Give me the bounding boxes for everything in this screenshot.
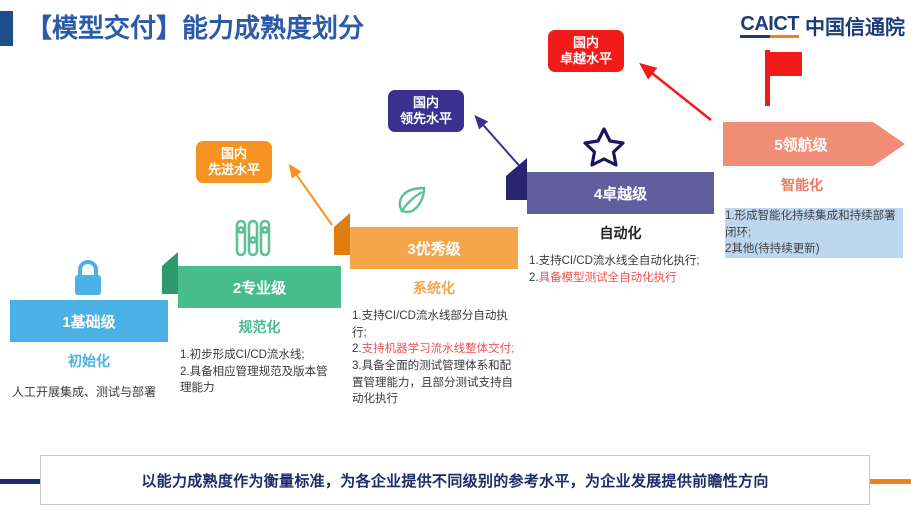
step-2-title: 2专业级 [233, 277, 286, 298]
flag-icon [762, 48, 806, 111]
step-1-subtitle: 初始化 [10, 351, 168, 371]
lock-icon [72, 258, 104, 303]
step-4-subtitle: 自动化 [527, 223, 714, 243]
maturity-step-4[interactable]: 4卓越级 自动化 1.支持CI/CD流水线全自动化执行; 2.具备模型测试全自动… [527, 172, 714, 286]
step-3-riser [334, 213, 350, 255]
step-1-title: 1基础级 [10, 300, 168, 342]
step-5-header: 5领航级 [723, 122, 905, 166]
leaf-icon [395, 183, 429, 222]
maturity-step-3[interactable]: 3优秀级 系统化 1.支持CI/CD流水线部分自动执行; 2.支持机器学习流水线… [350, 227, 518, 408]
badge-line-1: 国内 [400, 95, 452, 111]
step-5-description: 1.形成智能化持续集成和持续部署闭环; 2其他(待持续更新) [723, 208, 905, 258]
slide-canvas: 【模型交付】能力成熟度划分 CAICT 中国信通院 [0, 0, 911, 510]
caict-logo: CAICT 中国信通院 [740, 14, 905, 38]
step-3-desc-item-2-num: 2. [352, 343, 362, 355]
step-5-desc-item-2: 2其他(待持续更新) [725, 241, 903, 258]
badge-domestic-leading[interactable]: 国内 领先水平 [388, 90, 464, 132]
maturity-step-2[interactable]: 2专业级 规范化 1.初步形成CI/CD流水线; 2.具备相应管理规范及版本管理… [178, 266, 341, 397]
step-4-desc-item-1: 1.支持CI/CD流水线全自动化执行; [529, 253, 712, 270]
badge-line-2: 先进水平 [208, 162, 260, 178]
page-title: 【模型交付】能力成熟度划分 [26, 8, 364, 45]
maturity-step-1[interactable]: 1基础级 初始化 人工开展集成、测试与部署 [10, 300, 168, 401]
step-4-description: 1.支持CI/CD流水线全自动化执行; 2.具备模型测试全自动化执行 [527, 253, 714, 286]
step-4-title: 4卓越级 [594, 183, 647, 204]
footer-text: 以能力成熟度作为衡量标准，为各企业提供不同级别的参考水平，为企业发展提供前瞻性方… [141, 470, 768, 491]
sliders-icon [233, 218, 273, 263]
step-3-desc-item-1: 1.支持CI/CD流水线部分自动执行; [352, 308, 516, 341]
step-3-header: 3优秀级 [350, 227, 518, 269]
step-4-desc-item-2-num: 2. [529, 272, 539, 284]
footer-banner: 以能力成熟度作为衡量标准，为各企业提供不同级别的参考水平，为企业发展提供前瞻性方… [40, 455, 870, 505]
step-5-subtitle: 智能化 [723, 175, 881, 195]
step-5-title: 5领航级 [774, 134, 827, 155]
step-1-desc-line: 人工开展集成、测试与部署 [12, 383, 166, 401]
step-1-description: 人工开展集成、测试与部署 [10, 383, 168, 401]
star-icon [583, 126, 625, 173]
step-2-subtitle: 规范化 [178, 317, 341, 337]
step-2-desc-line: 2.具备相应管理规范及版本管理能力 [180, 364, 339, 397]
step-5-desc-item-1: 1.形成智能化持续集成和持续部署闭环; [725, 208, 903, 241]
step-3-description: 1.支持CI/CD流水线部分自动执行; 2.支持机器学习流水线整体交付; 3.具… [350, 308, 518, 408]
step-2-riser [162, 252, 178, 294]
step-3-title: 3优秀级 [407, 238, 460, 259]
badge-domestic-excellent[interactable]: 国内 卓越水平 [548, 30, 624, 72]
maturity-step-5[interactable]: 5领航级 智能化 1.形成智能化持续集成和持续部署闭环; 2其他(待持续更新) [723, 122, 905, 258]
badge-line-2: 领先水平 [400, 111, 452, 127]
badge-line-1: 国内 [208, 146, 260, 162]
title-accent-bar [0, 11, 13, 46]
step-5-riser [701, 108, 723, 152]
badge-line-2: 卓越水平 [560, 51, 612, 67]
step-2-desc-line: 1.初步形成CI/CD流水线; [180, 347, 339, 364]
step-3-desc-item-2-text: 支持机器学习流水线整体交付; [362, 343, 515, 355]
step-3-desc-item-3: 3.具备全面的测试管理体系和配置管理能力，且部分测试支持自动化执行 [352, 358, 516, 408]
step-4-header: 4卓越级 [527, 172, 714, 214]
step-2-header: 2专业级 [178, 266, 341, 308]
badge-line-1: 国内 [560, 35, 612, 51]
logo-name: 中国信通院 [805, 18, 905, 38]
step-2-description: 1.初步形成CI/CD流水线; 2.具备相应管理规范及版本管理能力 [178, 347, 341, 397]
step-3-desc-item-2: 2.支持机器学习流水线整体交付; [352, 341, 516, 358]
badge-domestic-advanced[interactable]: 国内 先进水平 [196, 141, 272, 183]
step-3-subtitle: 系统化 [350, 278, 518, 298]
step-4-desc-item-2-text: 具备模型测试全自动化执行 [539, 272, 677, 284]
step-4-riser [506, 158, 527, 200]
step-4-desc-item-2: 2.具备模型测试全自动化执行 [529, 270, 712, 287]
logo-mark: CAICT [740, 14, 799, 38]
